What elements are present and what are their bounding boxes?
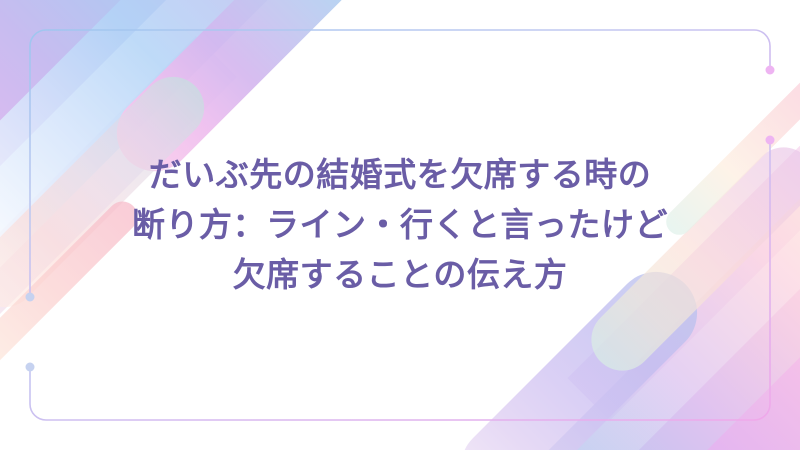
page-title: だいぶ先の結婚式を欠席する時の 断り方：ライン・行くと言ったけど 欠席することの… — [132, 150, 668, 300]
title-area: だいぶ先の結婚式を欠席する時の 断り方：ライン・行くと言ったけど 欠席することの… — [0, 0, 800, 450]
thumbnail-card: だいぶ先の結婚式を欠席する時の 断り方：ライン・行くと言ったけど 欠席することの… — [0, 0, 800, 450]
